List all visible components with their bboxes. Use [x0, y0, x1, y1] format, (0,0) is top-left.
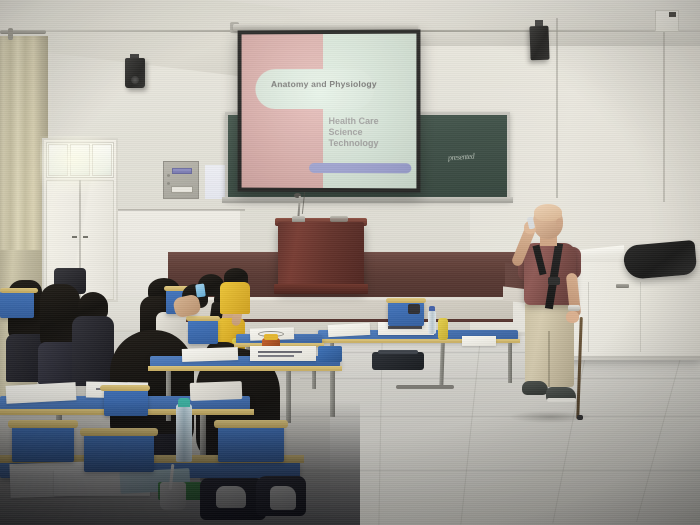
wall-notice-paper	[205, 165, 227, 199]
bottle-cap	[264, 334, 278, 340]
shoe-white-panel	[270, 486, 296, 510]
control-panel-label	[171, 186, 193, 193]
wall-control-panel[interactable]	[163, 161, 199, 199]
blue-folder	[318, 346, 342, 362]
podium-plinth	[274, 284, 368, 294]
presenter-shoe-left	[522, 381, 548, 395]
stack-of-papers	[190, 381, 243, 401]
walking-cane	[576, 317, 583, 419]
cabinet-handle[interactable]	[616, 284, 629, 288]
cabinet-panel-seam	[640, 282, 641, 352]
worksheet-paper	[462, 336, 496, 346]
speaker-cone-icon	[131, 76, 139, 84]
desk-crossbar	[396, 385, 454, 389]
junction-box-fitting	[669, 12, 676, 17]
shoe-sole	[547, 398, 576, 402]
printed-text-line	[258, 351, 302, 353]
door-handle-icon[interactable]	[83, 236, 88, 238]
wooden-podium	[278, 222, 364, 290]
trouser-crease	[548, 331, 550, 387]
printed-text-line	[388, 326, 422, 329]
student-shirt-yellow	[220, 282, 250, 314]
control-panel-knob-icon[interactable]	[167, 182, 170, 185]
desk-trim	[148, 366, 342, 371]
open-notebook	[182, 347, 238, 362]
bottle-cap	[178, 398, 190, 407]
control-panel-knob-icon[interactable]	[167, 174, 170, 177]
pencil-case	[372, 352, 424, 370]
chair-trim	[100, 385, 150, 391]
student-chair[interactable]	[104, 388, 148, 416]
student-top	[72, 316, 114, 386]
object-on-chair	[408, 304, 420, 314]
wall-conduit	[663, 32, 665, 202]
bottle-cap	[429, 306, 435, 311]
student-chair[interactable]	[218, 424, 284, 462]
control-panel-display	[172, 168, 192, 174]
notebook-page	[328, 323, 371, 337]
black-bag-on-cabinet	[623, 240, 698, 280]
textbook-page	[250, 346, 316, 361]
open-notebook	[6, 382, 77, 404]
chair-trim	[0, 288, 38, 293]
door-light-bloom	[40, 136, 122, 196]
door-handle-icon[interactable]	[72, 236, 77, 238]
presenter-figure	[500, 205, 596, 423]
student-chair[interactable]	[0, 290, 34, 318]
mobile-phone-screen[interactable]	[195, 283, 206, 297]
student-chair[interactable]	[84, 432, 154, 472]
printed-text-line	[258, 355, 294, 357]
pencil-case-zipper	[378, 350, 418, 354]
shoe-white-panel	[216, 486, 246, 508]
chair-trim	[80, 428, 158, 436]
desk-leg	[286, 371, 291, 423]
chair-trim	[214, 420, 288, 428]
desk-leg	[508, 343, 512, 383]
classroom-photo: presented Anatomy and Physiology Health …	[0, 0, 700, 525]
curtain-rod	[0, 30, 46, 34]
chair-trim	[8, 420, 78, 428]
paper-cup	[160, 482, 186, 510]
chair-trim	[386, 298, 426, 303]
presenter-ear	[556, 218, 563, 227]
student-chair[interactable]	[12, 424, 74, 462]
presenter-hand-right	[566, 311, 579, 323]
chalk-tray	[222, 197, 513, 203]
desk-leg	[330, 371, 335, 417]
cane-tip	[577, 415, 583, 420]
yellow-cloth-item	[438, 318, 448, 340]
presentation-slide: Anatomy and Physiology Health Care Scien…	[242, 34, 417, 189]
student-seated-9	[218, 268, 252, 314]
floor-grout-line	[255, 416, 700, 417]
projector-light-wash	[242, 34, 417, 189]
water-bottle	[428, 310, 436, 334]
projection-screen: Anatomy and Physiology Health Care Scien…	[238, 30, 421, 193]
curtain-rod-bracket	[8, 28, 13, 40]
wall-conduit	[556, 18, 558, 198]
wall-speaker-right	[529, 26, 549, 61]
water-bottle	[176, 404, 192, 462]
strap-buckle	[548, 277, 560, 285]
